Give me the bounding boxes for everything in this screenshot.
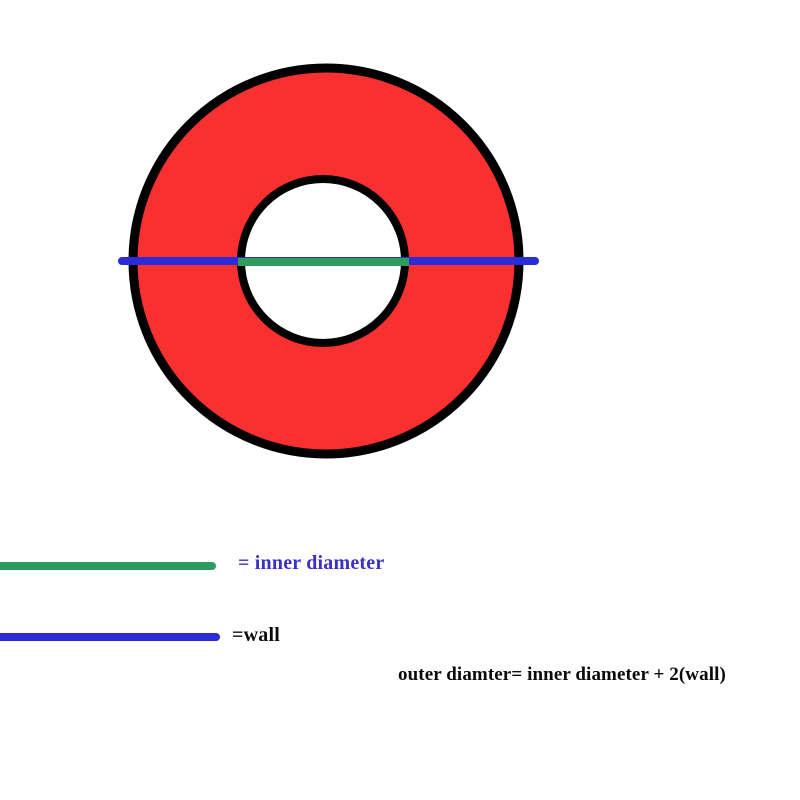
legend-label-inner-diameter: = inner diameter [238,552,384,575]
diagram-canvas: = inner diameter =wall outer diamter= in… [0,0,800,800]
formula-caption: outer diamter= inner diameter + 2(wall) [398,664,726,686]
legend-label-wall: =wall [232,624,280,647]
